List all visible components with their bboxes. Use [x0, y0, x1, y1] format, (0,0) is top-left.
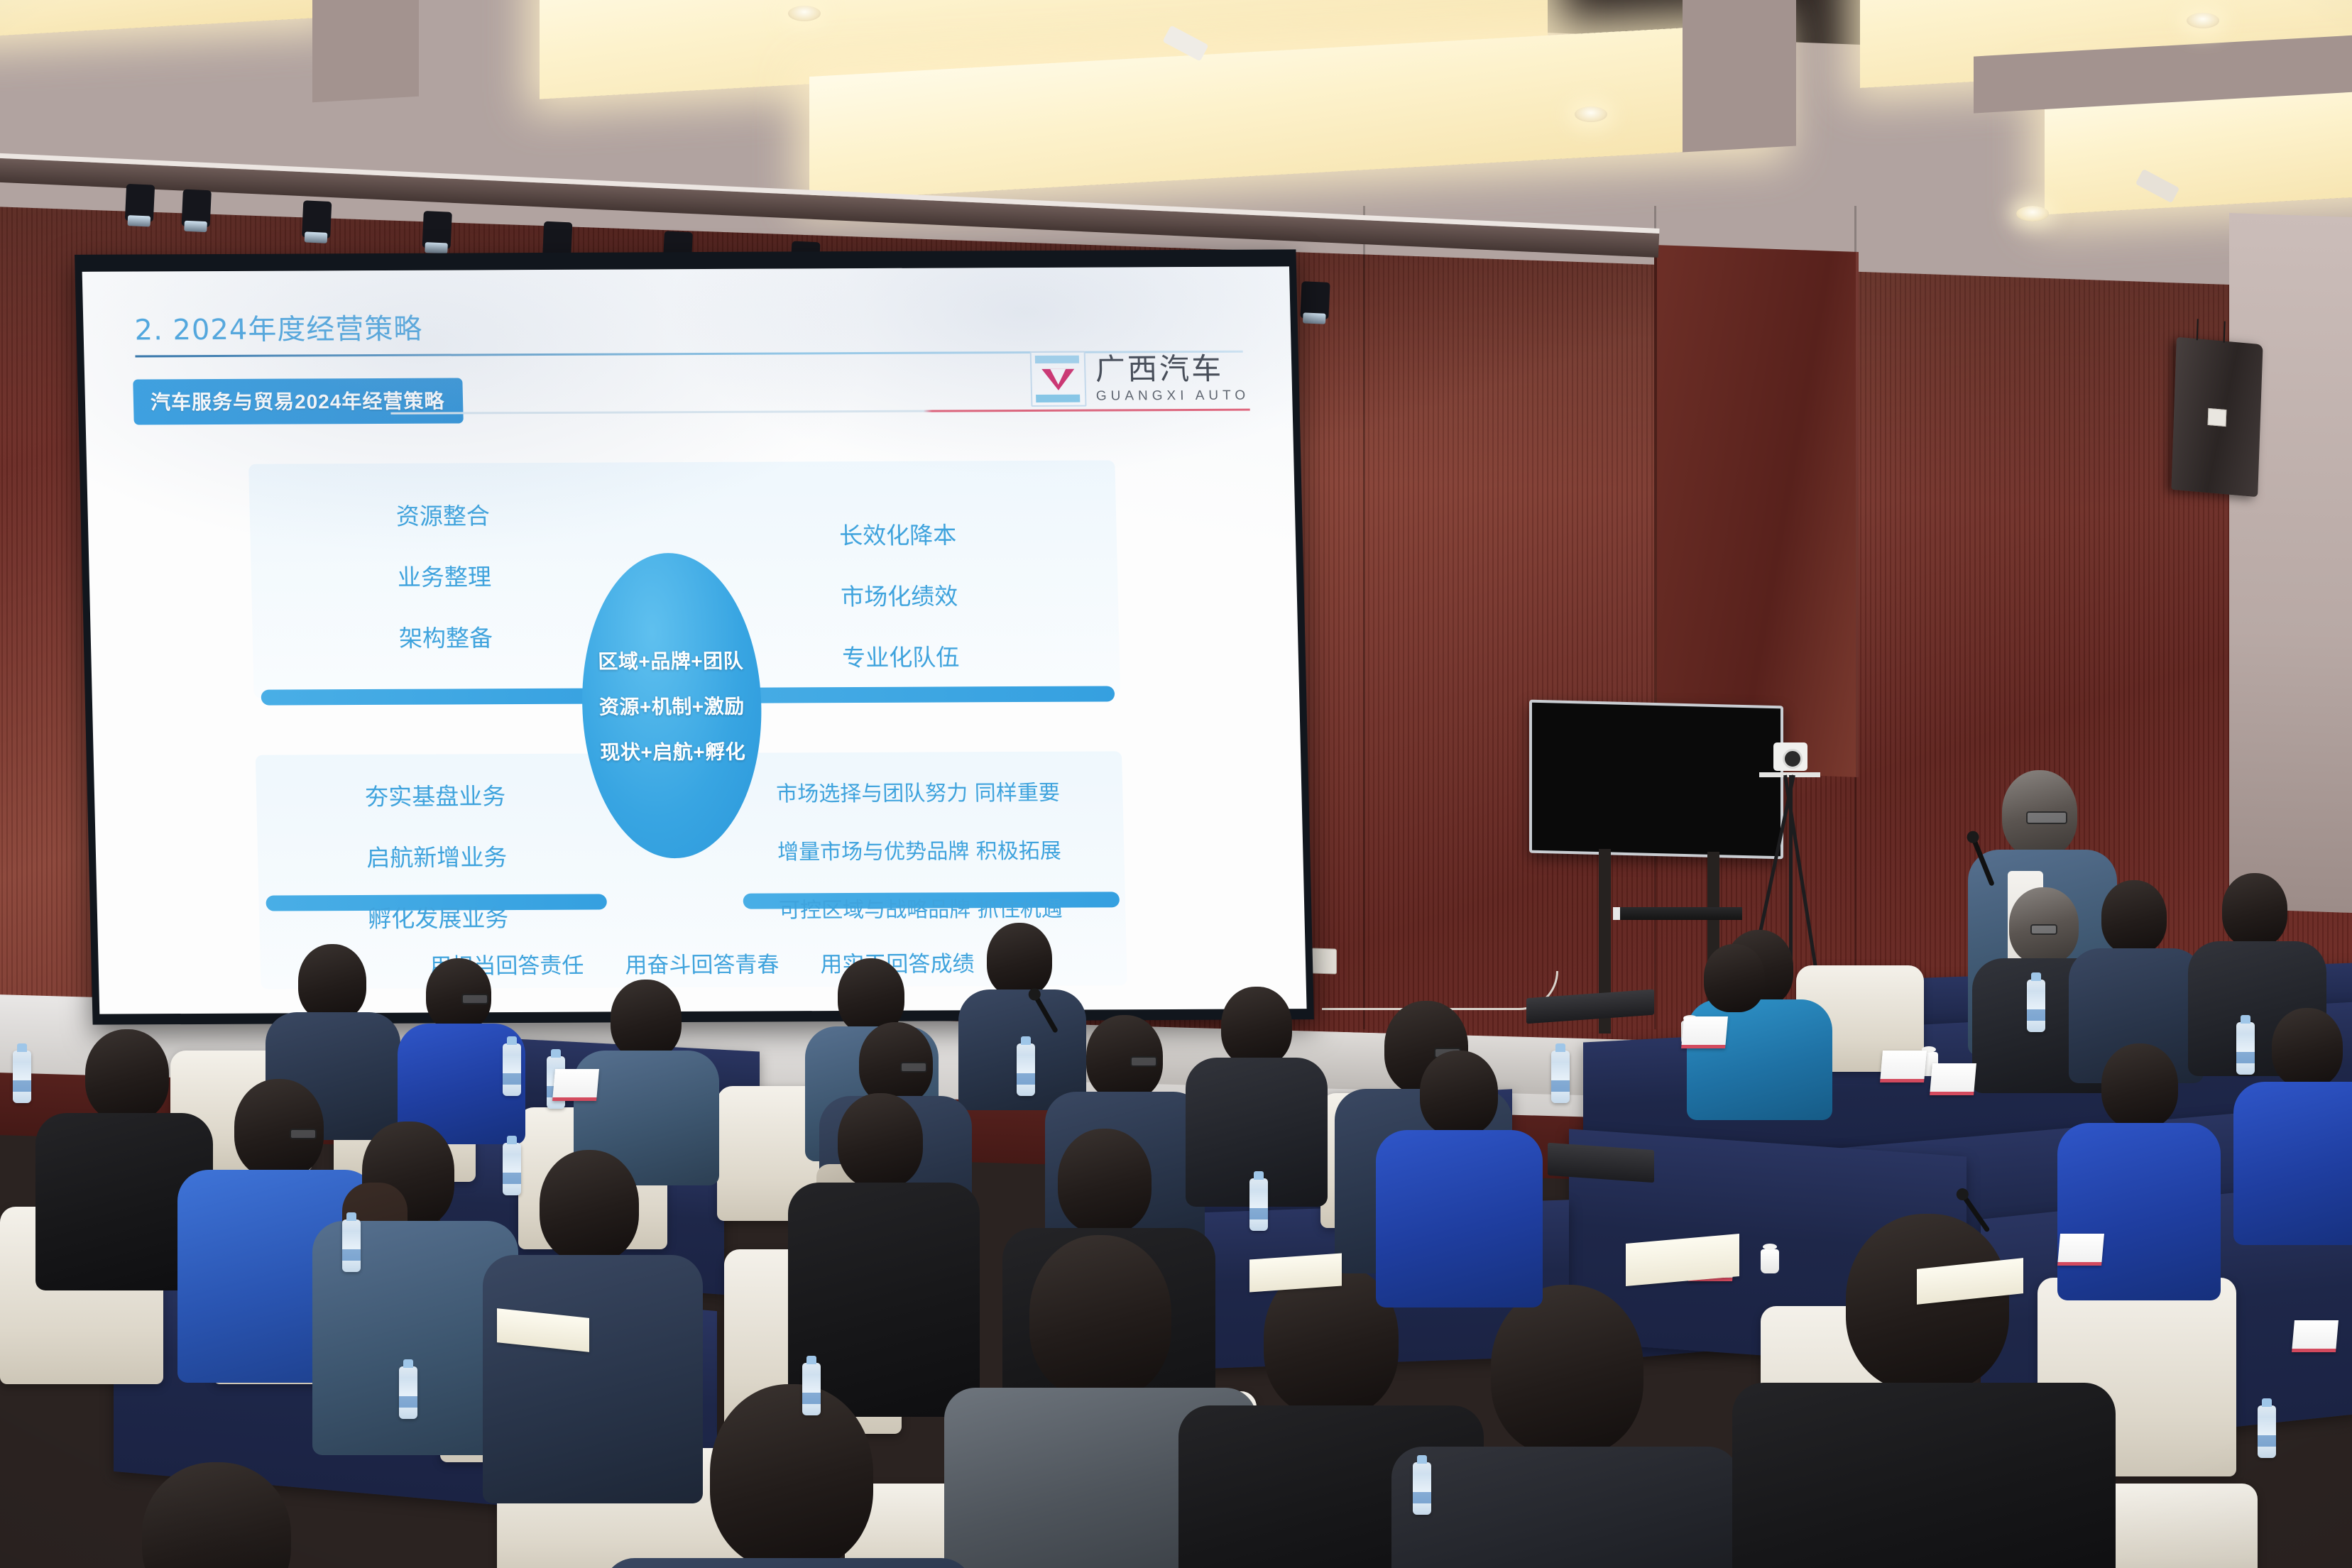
- wall-seam-1: [1363, 206, 1365, 1029]
- slide-ribbon-rule: [390, 409, 1249, 415]
- slide-text-item: 市场选择与团队努力 同样重要: [776, 775, 1061, 808]
- water-bottle: [13, 1051, 31, 1103]
- slide-text-item: 市场化绩效: [841, 577, 958, 612]
- attendee-head: [838, 1093, 923, 1188]
- ceiling-downlight-1: [788, 6, 821, 21]
- track-spotlight: [125, 184, 155, 222]
- slide-column-top-right: 长效化降本 市场化绩效 专业化队伍: [748, 516, 1050, 674]
- attendee-head: [710, 1384, 873, 1568]
- attendee-head: [1058, 1129, 1152, 1234]
- tv-soundbar: [1613, 907, 1742, 920]
- slide-text-item: 可控区域与战略品牌 抓住机遇: [779, 892, 1063, 924]
- jbl-wall-speaker: [2171, 337, 2263, 498]
- slide-text-item: 孵化发展业务: [368, 899, 509, 934]
- water-bottle: [2027, 980, 2045, 1032]
- logo-wordmark: 广西汽车 GUANGXI AUTO: [1095, 354, 1249, 403]
- notepad: [1249, 1253, 1342, 1292]
- track-spotlight: [1300, 281, 1330, 319]
- attendee-torso: [2233, 1082, 2352, 1245]
- ptz-conference-camera-icon: [1773, 742, 1807, 771]
- wall-door-panel: [1654, 245, 1859, 777]
- slide-text-item: 夯实基盘业务: [365, 777, 506, 812]
- attendee-torso: [1732, 1383, 2116, 1568]
- slide-ribbon-heading: 汽车服务与贸易2024年经营策略: [133, 378, 464, 424]
- attendee-head: [1420, 1051, 1498, 1136]
- presentation-slide: 2. 2024年度经营策略 汽车服务与贸易2024年经营策略 广西汽车 GUAN…: [82, 266, 1307, 1014]
- name-card: [1681, 1016, 1728, 1048]
- slide-column-top-left: 资源整合 业务整理 架构整备: [300, 497, 588, 654]
- slide-text-item: 增量市场与优势品牌 积极拓展: [777, 833, 1062, 866]
- attendee-head: [2222, 873, 2287, 947]
- track-spotlight: [422, 211, 452, 249]
- attendee-head: [1221, 987, 1292, 1066]
- water-bottle: [503, 1043, 521, 1096]
- projection-screen-frame: 2. 2024年度经营策略 汽车服务与贸易2024年经营策略 广西汽车 GUAN…: [75, 249, 1314, 1024]
- ceiling-rib-2: [1683, 0, 1796, 152]
- attendee-torso: [2057, 1123, 2221, 1300]
- ellipse-line: 资源+机制+激励: [598, 691, 745, 720]
- logo-bar-bottom: [1036, 395, 1080, 402]
- attendee-head: [85, 1029, 169, 1122]
- slide-slogan-row: 用担当回答责任 用奋斗回答青春 用实干回答成绩: [98, 944, 1306, 981]
- logo-bar-top: [1034, 356, 1078, 363]
- company-logo: 广西汽车 GUANGXI AUTO: [1029, 351, 1249, 407]
- conference-room-screenshot: 2. 2024年度经营策略 汽车服务与贸易2024年经营策略 广西汽车 GUAN…: [0, 0, 2352, 1568]
- water-bottle: [1249, 1178, 1268, 1231]
- water-bottle: [1413, 1462, 1431, 1515]
- water-bottle: [503, 1143, 521, 1195]
- slide-text-item: 专业化队伍: [842, 638, 960, 673]
- ellipse-line: 区域+品牌+团队: [598, 646, 744, 675]
- attendee-head: [987, 923, 1052, 997]
- tea-cup: [1761, 1249, 1779, 1273]
- slide-text-item: 启航新增业务: [366, 838, 508, 873]
- glasses-icon: [2026, 811, 2067, 824]
- glasses-icon: [1130, 1056, 1157, 1067]
- name-card: [1880, 1051, 1927, 1082]
- ellipse-line: 现状+启航+孵化: [600, 737, 746, 766]
- attendee-head: [298, 944, 366, 1021]
- glasses-icon: [461, 994, 488, 1004]
- ceiling-downlight-4: [2016, 206, 2049, 221]
- glasses-icon: [290, 1129, 317, 1139]
- attendee-head: [1704, 944, 1765, 1012]
- attendee-torso: [1376, 1130, 1543, 1307]
- wall-right-plaster-panel: [2229, 213, 2352, 915]
- slide-column-bottom-left: 夯实基盘业务 启航新增业务 孵化发展业务: [286, 777, 588, 935]
- attendee-head: [2272, 1008, 2343, 1087]
- ceiling-rib-1: [312, 0, 419, 102]
- slogan-item: 用奋斗回答青春: [625, 946, 780, 979]
- slide-text-item: 架构整备: [398, 619, 493, 654]
- glasses-icon: [900, 1062, 927, 1073]
- name-card: [2057, 1234, 2104, 1266]
- water-bottle: [342, 1219, 361, 1272]
- attendee-torso: [1391, 1447, 1739, 1568]
- attendee-torso: [483, 1255, 703, 1503]
- water-bottle: [802, 1363, 821, 1415]
- wall-display-tv: [1529, 700, 1783, 860]
- slide-column-bottom-right: 市场选择与团队努力 同样重要 增量市场与优势品牌 积极拓展 可控区域与战略品牌 …: [776, 774, 1177, 923]
- attendee-head: [1491, 1285, 1643, 1455]
- name-card: [552, 1069, 599, 1101]
- wuling-w-emblem-icon: [1029, 351, 1086, 407]
- projection-screen: 2. 2024年度经营策略 汽车服务与贸易2024年经营策略 广西汽车 GUAN…: [82, 266, 1307, 1014]
- ceiling-downlight-3: [2187, 13, 2219, 28]
- water-bottle: [2258, 1405, 2276, 1458]
- logo-name-cn: 广西汽车: [1095, 354, 1249, 385]
- logo-w-glyph: [1041, 369, 1075, 390]
- track-spotlight: [302, 200, 332, 239]
- attendee-head: [611, 980, 682, 1059]
- water-bottle: [399, 1366, 417, 1419]
- attendee-head: [2101, 880, 2167, 954]
- attendee-head: [2101, 1043, 2178, 1129]
- water-bottle: [1551, 1051, 1570, 1103]
- slide-title: 2. 2024年度经营策略: [134, 306, 423, 349]
- track-spotlight: [182, 190, 212, 228]
- water-bottle: [2236, 1022, 2255, 1075]
- logo-name-en: GUANGXI AUTO: [1096, 389, 1250, 403]
- attendee-head: [540, 1150, 639, 1262]
- glasses-icon: [2030, 924, 2057, 935]
- attendee-torso: [603, 1558, 973, 1568]
- water-bottle: [1017, 1043, 1035, 1096]
- name-card: [2292, 1320, 2339, 1352]
- ceiling-downlight-2: [1575, 106, 1607, 122]
- attendee-head: [1029, 1235, 1171, 1398]
- slide-text-item: 资源整合: [395, 497, 490, 532]
- slide-text-item: 长效化降本: [839, 516, 957, 551]
- slide-text-item: 业务整理: [397, 558, 491, 593]
- name-card: [1930, 1063, 1976, 1095]
